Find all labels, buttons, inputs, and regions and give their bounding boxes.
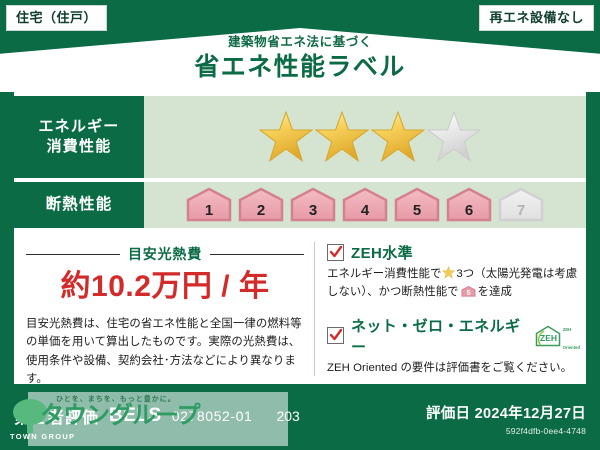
renewable-equipment-tag: 再エネ設備なし — [479, 5, 594, 31]
bels-number: 0278052-01 — [172, 408, 253, 424]
house-icon-small: 5 — [461, 285, 476, 298]
energy-performance-key: エネルギー 消費性能 — [14, 96, 144, 178]
net-zero-energy-block: ネット・ゼロ・エネルギー ZEH ZEH Oriented — [327, 315, 580, 378]
checkbox-checked[interactable] — [327, 327, 344, 344]
bels-logo: BELS — [109, 405, 162, 427]
zeh-logo-sub-line2: Oriented — [563, 345, 580, 350]
evaluation-date: 評価日 2024年12月27日 — [426, 402, 586, 423]
insulation-performance-key: 断熱性能 — [14, 182, 144, 228]
rule-right — [210, 254, 304, 255]
insulation-level-label: 6 — [465, 202, 473, 223]
net-zero-energy-description: ZEH Oriented の要件は評価書をご覧ください。 — [327, 360, 580, 378]
insulation-level-4: 4 — [341, 187, 389, 223]
zeh-standard-block: ZEH水準 エネルギー消費性能で3つ（太陽光発電は考慮しない）、かつ断熱性能で5… — [327, 242, 580, 305]
insulation-scale: 1 2 3 — [185, 187, 545, 223]
cost-heading: 目安光熱費 — [128, 244, 202, 264]
zeh-logo-sub-line1: ZEH — [563, 327, 571, 332]
energy-key-line2: 消費性能 — [47, 137, 112, 157]
label-header: 住宅（住戸） 再エネ設備なし 建築物省エネ法に基づく 省エネ性能ラベル — [0, 0, 600, 92]
zeh-standard-title: ZEH水準 — [351, 242, 413, 263]
zeh-logo-subtext: ZEH Oriented — [563, 318, 580, 354]
rule-left — [26, 254, 120, 255]
zeh-logo: ZEH ZEH Oriented — [535, 318, 580, 354]
zeh-standard-heading: ZEH水準 — [327, 242, 580, 263]
cost-note: 目安光熱費は、住宅の省エネ性能と全国一律の燃料等の単価を用いて算出したものです。… — [26, 315, 304, 389]
check-icon — [329, 245, 343, 259]
page-title: 省エネ性能ラベル — [0, 53, 600, 82]
cost-heading-row: 目安光熱費 — [26, 244, 304, 264]
svg-text:5: 5 — [466, 290, 470, 297]
insulation-level-label: 5 — [413, 202, 421, 223]
insulation-level-5: 5 — [393, 187, 441, 223]
cost-panel: 目安光熱費 約10.2万円 / 年 目安光熱費は、住宅の省エネ性能と全国一律の燃… — [14, 234, 314, 384]
insulation-level-label: 1 — [205, 202, 213, 223]
star-icon-filled — [315, 111, 369, 163]
star-rating — [259, 111, 481, 163]
bels-info: 第三者評価 BELS 0278052-01 203 — [14, 404, 300, 428]
evaluation-info: 評価日 2024年12月27日 592f4dfb-0ee4-4748 — [426, 402, 586, 436]
svg-text:ZEH: ZEH — [540, 333, 557, 343]
insulation-level-2: 2 — [237, 187, 285, 223]
star-icon-filled — [371, 111, 425, 163]
zeh-desc-part1: エネルギー消費性能で — [327, 268, 441, 280]
energy-performance-label: 住宅（住戸） 再エネ設備なし 建築物省エネ法に基づく 省エネ性能ラベル エネルギ… — [0, 0, 600, 450]
watermark-town-group: TOWN GROUP — [10, 432, 75, 441]
zeh-standard-description: エネルギー消費性能で3つ（太陽光発電は考慮しない）、かつ断熱性能で5を達成 — [327, 266, 580, 305]
star-icon-filled — [259, 111, 313, 163]
insulation-level-7: 7 — [497, 187, 545, 223]
insulation-level-3: 3 — [289, 187, 337, 223]
star-icon-empty — [427, 111, 481, 163]
energy-key-line1: エネルギー — [38, 117, 119, 137]
net-zero-energy-heading: ネット・ゼロ・エネルギー ZEH ZEH Oriented — [327, 315, 580, 357]
label-footer: 第三者評価 BELS 0278052-01 203 評価日 2024年12月27… — [0, 390, 600, 450]
zeh-desc-part3: を達成 — [478, 286, 512, 298]
energy-performance-row: エネルギー 消費性能 — [14, 96, 586, 178]
zeh-house-logo-icon: ZEH — [535, 325, 561, 347]
net-zero-energy-title: ネット・ゼロ・エネルギー — [351, 315, 525, 357]
building-type-tag: 住宅（住戸） — [6, 5, 107, 31]
check-icon — [329, 328, 343, 342]
title-block: 建築物省エネ法に基づく 省エネ性能ラベル — [0, 36, 600, 82]
lower-section: 目安光熱費 約10.2万円 / 年 目安光熱費は、住宅の省エネ性能と全国一律の燃… — [14, 234, 586, 384]
insulation-performance-value: 1 2 3 — [144, 182, 586, 228]
third-party-evaluation-label: 第三者評価 — [14, 404, 99, 428]
insulation-level-label: 2 — [257, 202, 265, 223]
evaluation-id: 592f4dfb-0ee4-4748 — [426, 426, 586, 436]
zeh-panel: ZEH水準 エネルギー消費性能で3つ（太陽光発電は考慮しない）、かつ断熱性能で5… — [315, 234, 586, 384]
insulation-level-1: 1 — [185, 187, 233, 223]
insulation-level-label: 7 — [517, 202, 525, 223]
star-icon-inline — [442, 266, 455, 279]
insulation-key-line1: 断熱性能 — [46, 195, 113, 216]
title-subtitle: 建築物省エネ法に基づく — [0, 36, 600, 50]
insulation-level-label: 3 — [309, 202, 317, 223]
watermark-tagline: ひとを、まちを、もっと豊かに。 — [56, 394, 176, 404]
room-number: 203 — [276, 408, 299, 424]
insulation-level-6: 6 — [445, 187, 493, 223]
label-body: エネルギー 消費性能 — [14, 92, 586, 384]
house-badge-inline: 5 — [461, 285, 476, 305]
energy-performance-value — [144, 96, 586, 178]
insulation-level-label: 4 — [361, 202, 369, 223]
cost-amount: 約10.2万円 / 年 — [26, 270, 304, 303]
insulation-performance-row: 断熱性能 1 — [14, 182, 586, 228]
checkbox-checked[interactable] — [327, 244, 344, 261]
